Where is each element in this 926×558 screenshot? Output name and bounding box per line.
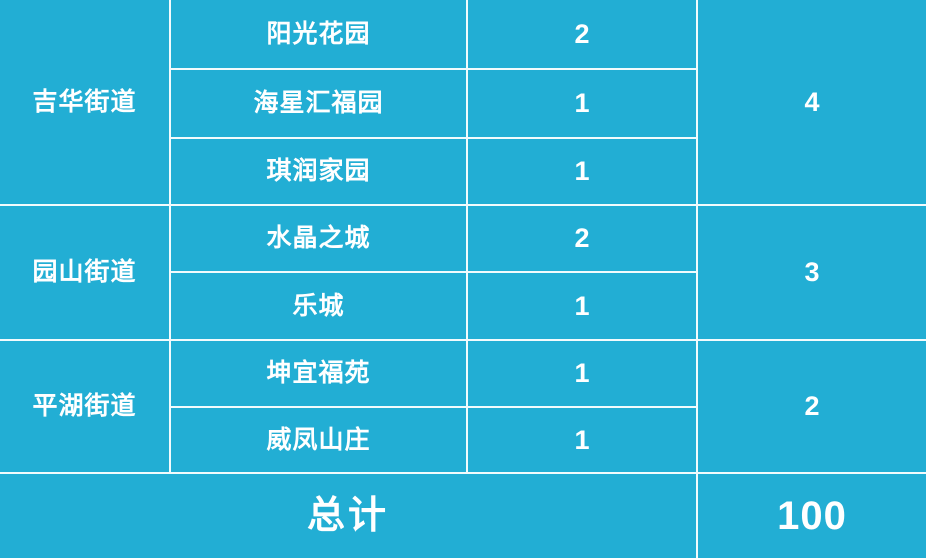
community-count-cell: 1 [468, 408, 696, 472]
community-count-cell: 1 [468, 70, 696, 137]
grid-line-horizontal [0, 204, 926, 206]
grand-total-value-cell: 100 [698, 474, 926, 558]
community-name-cell: 坤宜福苑 [171, 341, 466, 406]
community-name-cell: 琪润家园 [171, 139, 466, 204]
grid-line-vertical [169, 0, 171, 472]
grid-line-horizontal [0, 339, 926, 341]
grid-line-vertical [466, 0, 468, 472]
community-count-cell: 1 [468, 139, 696, 204]
community-name-cell: 乐城 [171, 273, 466, 339]
grid-line-horizontal [171, 137, 696, 139]
street-name-cell: 吉华街道 [0, 0, 169, 204]
community-count-cell: 2 [468, 206, 696, 271]
street-name-cell: 园山街道 [0, 206, 169, 339]
community-count-cell: 1 [468, 341, 696, 406]
community-count-cell: 2 [468, 0, 696, 68]
community-name-cell: 海星汇福园 [171, 70, 466, 137]
street-name-cell: 平湖街道 [0, 341, 169, 472]
grid-line-horizontal [171, 68, 696, 70]
community-name-cell: 水晶之城 [171, 206, 466, 271]
street-subtotal-cell: 4 [698, 0, 926, 204]
grid-line-vertical [696, 0, 698, 558]
street-subtotal-cell: 2 [698, 341, 926, 472]
grid-line-horizontal [171, 271, 696, 273]
community-count-cell: 1 [468, 273, 696, 339]
community-name-cell: 阳光花园 [171, 0, 466, 68]
street-subtotal-cell: 3 [698, 206, 926, 339]
grand-total-label-cell: 总计 [0, 474, 696, 558]
community-name-cell: 威凤山庄 [171, 408, 466, 472]
statistics-table: 吉华街道 阳光花园 2 海星汇福园 1 琪润家园 1 4 园山街道 水晶之城 2… [0, 0, 926, 558]
grid-line-horizontal [0, 472, 926, 474]
grid-line-horizontal [171, 406, 696, 408]
